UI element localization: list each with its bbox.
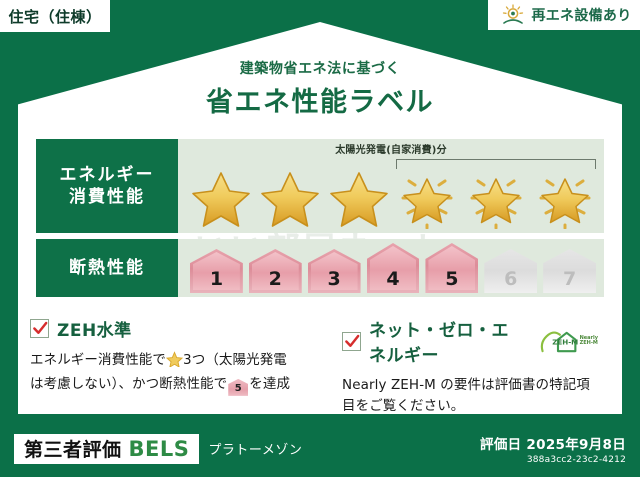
checkmark-icon: [30, 319, 49, 338]
grade-marker: 1: [190, 249, 243, 293]
insulation-grade-scale: 1 2 3 4 5 6 7: [190, 245, 596, 293]
grade-value: 7: [563, 268, 576, 290]
insulation-performance-row: 断熱性能 1 2 3 4 5 6 7: [36, 239, 604, 297]
energy-label-line2: 消費性能: [69, 186, 145, 208]
star-solar: [463, 167, 529, 229]
grade-marker: 2: [249, 249, 302, 293]
criterion-zeh-description: エネルギー消費性能で3つ（太陽光発電は考慮しない）、かつ断熱性能で5を達成: [30, 350, 308, 396]
building-type-label: 住宅（住棟）: [8, 6, 101, 27]
star-filled: [326, 167, 392, 229]
zeh-m-house-icon: ZEH-M: [538, 328, 578, 355]
insulation-performance-body: 1 2 3 4 5 6 7: [178, 239, 604, 297]
energy-performance-label-box: エネルギー 消費性能: [36, 139, 178, 233]
bels-plate: 第三者評価 BELS: [14, 434, 199, 464]
grade-marker: 4: [367, 243, 420, 293]
sun-icon: [500, 4, 526, 26]
title-subtitle: 建築物省エネ法に基づく: [0, 58, 640, 78]
desc-part-1: エネルギー消費性能で: [30, 352, 166, 368]
grade-marker: 7: [543, 249, 596, 293]
page-title: 省エネ性能ラベル: [0, 80, 640, 119]
star-filled: [257, 167, 323, 229]
zeh-m-badge: ZEH-M Nearly ZEH-M: [538, 328, 598, 355]
grade-value: 4: [386, 268, 399, 290]
energy-performance-label: 住宅（住棟） 再エネ設備あり 建築物省エネ法に基づく 省エネ性能ラベル いい部屋…: [0, 0, 640, 477]
energy-performance-body: 太陽光発電(自家消費)分: [178, 139, 604, 233]
zeh-m-sub-text: Nearly ZEH-M: [580, 336, 598, 347]
solar-note-label: 太陽光発電(自家消費)分: [335, 141, 447, 156]
desc-part-2: は考慮しない）、かつ断熱性能で: [30, 376, 227, 392]
renewable-badge-label: 再エネ設備あり: [531, 5, 631, 25]
renewable-equipment-chip: 再エネ設備あり: [488, 0, 640, 30]
grade-value: 1: [210, 268, 223, 290]
grade-value: 6: [504, 268, 517, 290]
star-solar: [394, 167, 460, 229]
criteria-section: ZEH水準 エネルギー消費性能で3つ（太陽光発電は考慮しない）、かつ断熱性能で5…: [30, 316, 610, 417]
svg-text:ZEH-M: ZEH-M: [552, 337, 578, 346]
grade-marker: 6: [484, 249, 537, 293]
grade-marker: 5: [425, 243, 478, 293]
evaluation-date: 評価日 2025年9月8日: [480, 433, 626, 453]
insulation-performance-label-box: 断熱性能: [36, 239, 178, 297]
builder-name: プラトーメゾン: [208, 439, 302, 458]
star-solar: [532, 167, 598, 229]
criterion-nze-description: Nearly ZEH-M の要件は評価書の特記項目をご覧ください。: [342, 375, 598, 417]
energy-label-line1: エネルギー: [60, 164, 155, 186]
grade-marker: 3: [308, 249, 361, 293]
criterion-net-zero-energy: ネット・ゼロ・エネルギー ZEH-M Nearly ZEH-M Nearly Z…: [320, 316, 610, 417]
grade-value: 2: [269, 268, 282, 290]
criterion-nze-title: ネット・ゼロ・エネルギー: [369, 316, 526, 366]
bels-logo-text: BELS: [129, 437, 190, 461]
building-type-chip: 住宅（住棟）: [0, 0, 110, 32]
energy-performance-row: エネルギー 消費性能 太陽光発電(自家消費)分: [36, 139, 604, 233]
grade-value: 3: [328, 268, 341, 290]
third-party-label: 第三者評価: [24, 435, 122, 462]
desc-part-3: を達成: [249, 376, 290, 392]
evaluation-id: 388a3cc2-23c2-4212: [480, 455, 626, 465]
checkmark-icon: [342, 332, 361, 351]
criterion-zeh-level: ZEH水準 エネルギー消費性能で3つ（太陽光発電は考慮しない）、かつ断熱性能で5…: [30, 316, 320, 417]
inline-star-icon: [166, 351, 183, 374]
insulation-label: 断熱性能: [69, 257, 145, 279]
footer-bar: 第三者評価 BELS プラトーメゾン 評価日 2025年9月8日 388a3cc…: [0, 420, 640, 477]
star-rating: [188, 167, 598, 229]
criterion-nze-header: ネット・ゼロ・エネルギー ZEH-M Nearly ZEH-M: [342, 316, 598, 366]
criterion-zeh-header: ZEH水準: [30, 316, 308, 341]
grade-value: 5: [445, 268, 458, 290]
evaluation-info: 評価日 2025年9月8日 388a3cc2-23c2-4212: [480, 433, 626, 465]
star-filled: [188, 167, 254, 229]
desc-star-count: 3つ（太陽光発電: [183, 352, 287, 368]
criterion-zeh-title: ZEH水準: [57, 316, 132, 341]
inline-grade-badge: 5: [228, 379, 248, 396]
zeh-m-sub-line2: ZEH-M: [580, 340, 598, 346]
